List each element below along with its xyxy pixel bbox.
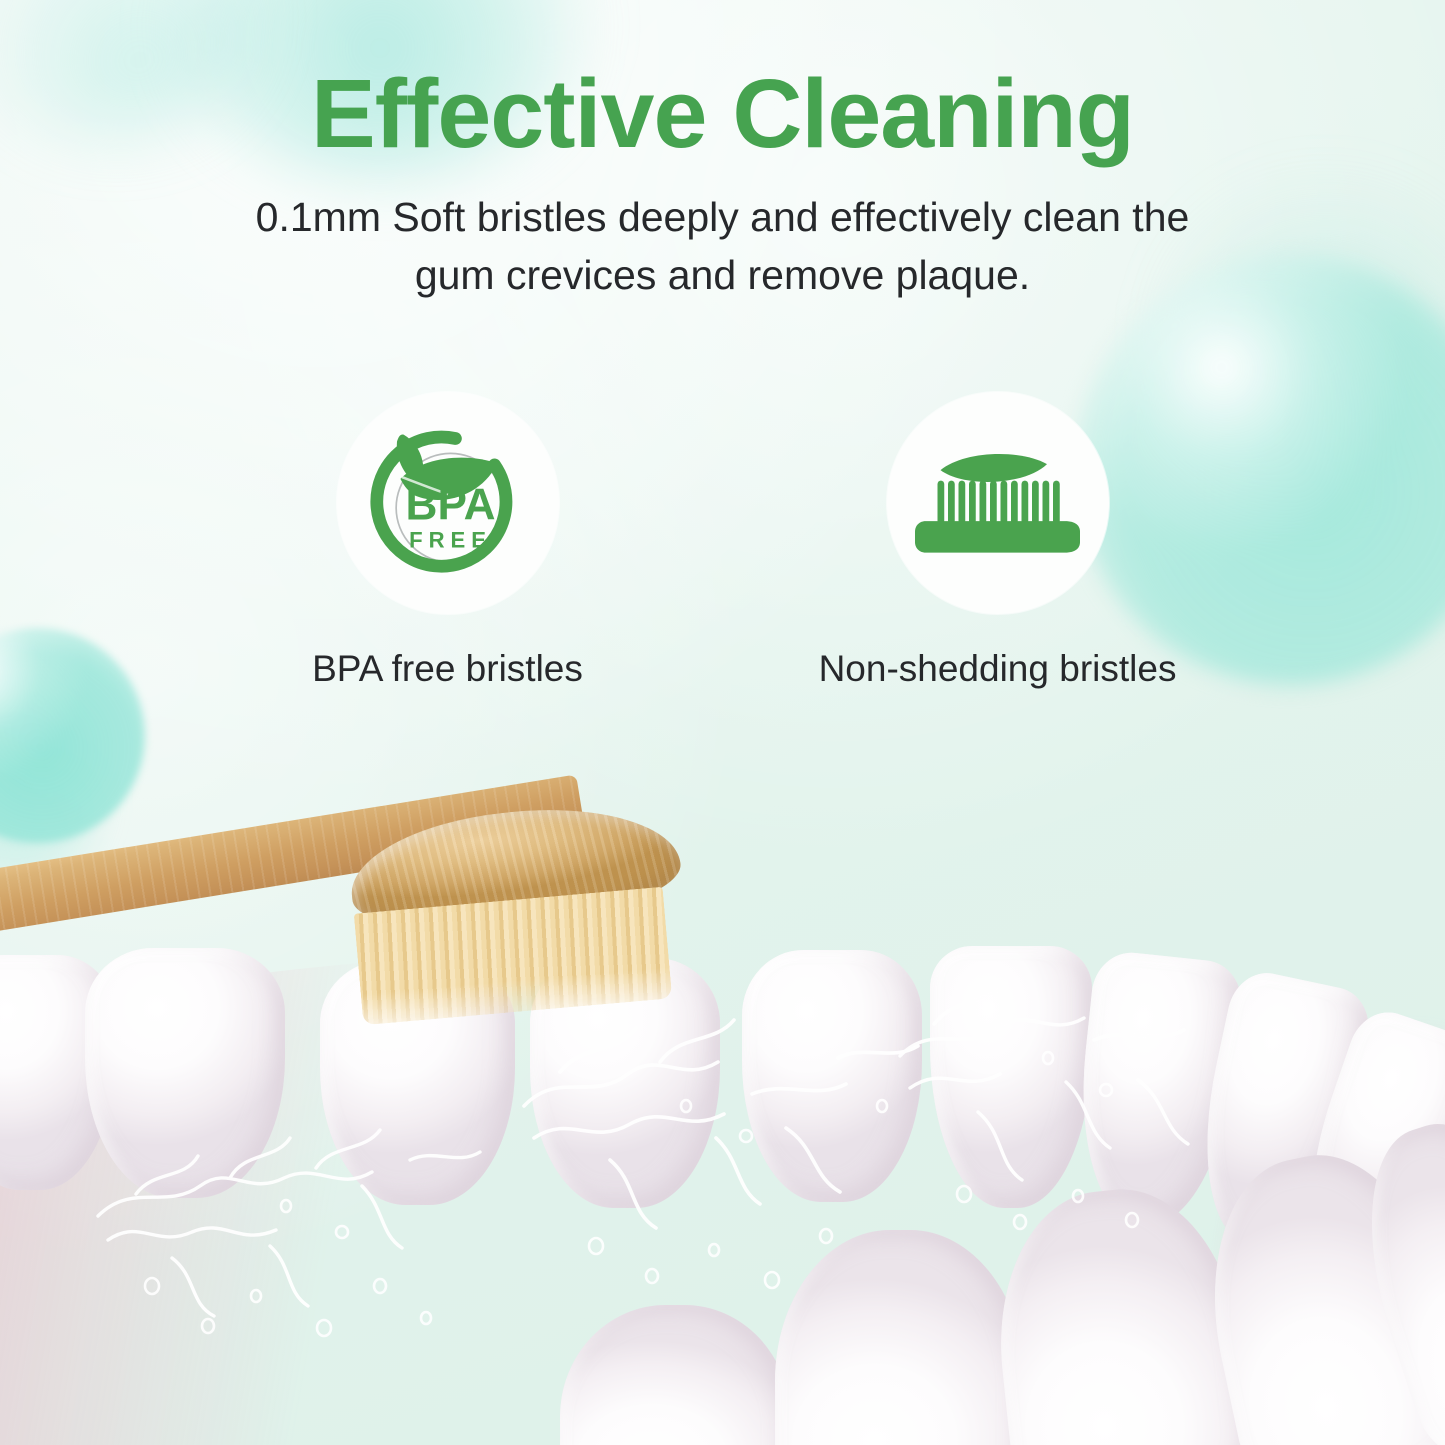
page-title: Effective Cleaning bbox=[0, 62, 1445, 167]
bamboo-toothbrush bbox=[0, 800, 780, 1030]
feature-list: BPA FREE BPA free bristles bbox=[0, 392, 1445, 690]
feature-non-shedding: Non-shedding bristles bbox=[848, 392, 1148, 690]
feature-icon-container: BPA FREE bbox=[337, 392, 559, 614]
feature-icon-container bbox=[887, 392, 1109, 614]
bpa-badge-primary-text: BPA bbox=[405, 480, 495, 529]
bpa-badge-secondary-text: FREE bbox=[409, 527, 492, 552]
page-subtitle: 0.1mm Soft bristles deeply and effective… bbox=[160, 188, 1285, 304]
subtitle-line-1: 0.1mm Soft bristles deeply and effective… bbox=[160, 188, 1285, 246]
feature-bpa-free: BPA FREE BPA free bristles bbox=[298, 392, 598, 690]
feature-label-non-shedding: Non-shedding bristles bbox=[819, 648, 1177, 690]
infographic-canvas: Effective Cleaning 0.1mm Soft bristles d… bbox=[0, 0, 1445, 1445]
feature-label-bpa-free: BPA free bristles bbox=[312, 648, 583, 690]
bpa-free-leaf-badge-icon: BPA FREE bbox=[363, 416, 533, 591]
toothbrush-with-paste-icon bbox=[915, 438, 1080, 568]
subtitle-line-2: gum crevices and remove plaque. bbox=[160, 246, 1285, 304]
